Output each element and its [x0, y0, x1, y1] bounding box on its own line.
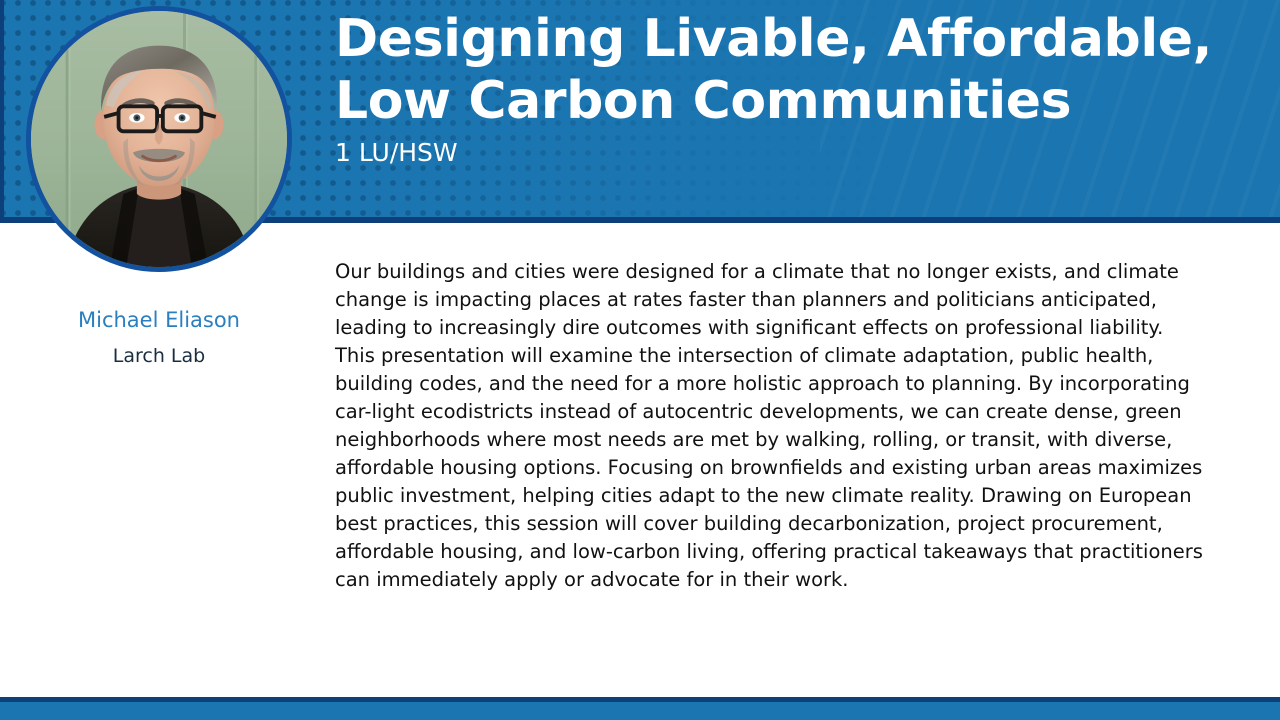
banner-left-accent-edge	[0, 0, 4, 217]
title-block: Designing Livable, Affordable, Low Carbo…	[335, 8, 1235, 168]
speaker-organization: Larch Lab	[8, 344, 310, 369]
session-credits-label: 1 LU/HSW	[335, 138, 1235, 168]
session-description: Our buildings and cities were designed f…	[335, 258, 1203, 594]
speaker-info-block: Michael Eliason Larch Lab	[8, 306, 310, 369]
speaker-avatar	[26, 6, 292, 272]
footer-bar	[0, 702, 1280, 720]
speaker-photo-image	[31, 11, 287, 267]
session-title: Designing Livable, Affordable, Low Carbo…	[335, 8, 1235, 132]
speaker-name: Michael Eliason	[8, 306, 310, 334]
